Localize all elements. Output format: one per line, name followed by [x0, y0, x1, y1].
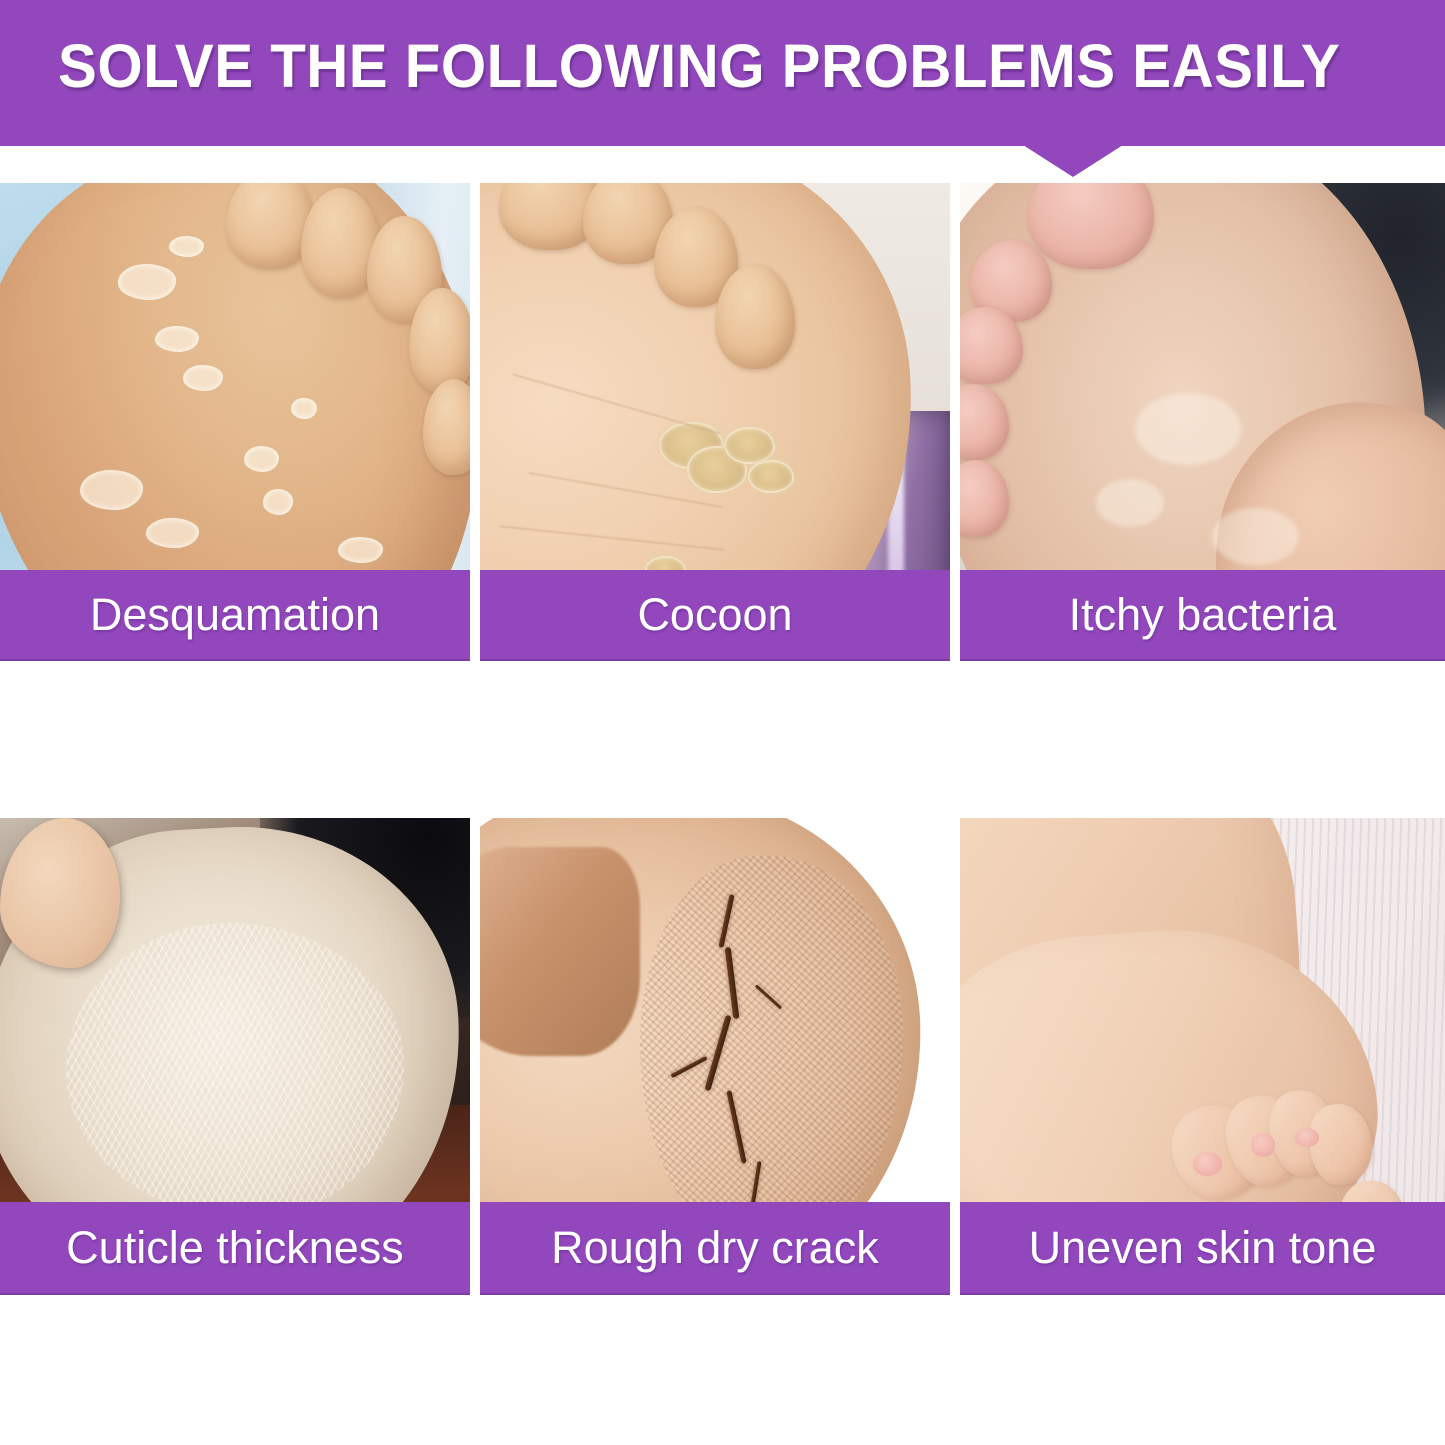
ankle-shadow — [480, 847, 640, 1057]
caption-bar-cuticle-thickness: Cuticle thickness — [0, 1202, 470, 1295]
problem-card-uneven-skin-tone[interactable]: Uneven skin tone — [960, 818, 1445, 1386]
skin-flake — [169, 236, 204, 257]
photo-desquamation: Desquamation — [0, 183, 470, 661]
big-toe — [1028, 183, 1154, 269]
dry-skin-patch — [1096, 479, 1164, 527]
skin-flake — [183, 365, 223, 391]
caption-bar-itchy-bacteria: Itchy bacteria — [960, 570, 1445, 661]
photo-cuticle-thickness: Cuticle thickness — [0, 818, 470, 1295]
callus-cocoon-spot — [724, 427, 775, 464]
toenail — [1295, 1128, 1319, 1147]
skin-flake — [338, 537, 382, 563]
callus-cocoon-spot — [748, 460, 794, 493]
photo-rough-dry-crack: Rough dry crack — [480, 818, 950, 1295]
caption-label: Desquamation — [90, 589, 380, 641]
skin-flake — [291, 398, 317, 419]
caption-label: Uneven skin tone — [1029, 1222, 1377, 1274]
toenail — [1193, 1152, 1222, 1176]
problem-card-cuticle-thickness[interactable]: Cuticle thickness — [0, 818, 470, 1386]
photo-itchy-bacteria: Itchy bacteria — [960, 183, 1445, 661]
row-gap — [0, 752, 1445, 818]
caption-label: Rough dry crack — [551, 1222, 879, 1274]
skin-flake — [263, 489, 293, 515]
caption-bar-uneven-skin-tone: Uneven skin tone — [960, 1202, 1445, 1295]
caption-label: Cuticle thickness — [66, 1222, 404, 1274]
photo-uneven-skin-tone: Uneven skin tone — [960, 818, 1445, 1295]
skin-flake — [244, 446, 279, 472]
header-banner: SOLVE THE FOLLOWING PROBLEMS EASILY — [0, 0, 1445, 146]
caption-label: Cocoon — [637, 589, 792, 641]
skin-flake — [146, 518, 200, 549]
skin-flake — [80, 470, 143, 510]
problem-card-rough-dry-crack[interactable]: Rough dry crack — [480, 818, 950, 1386]
problem-card-cocoon[interactable]: Cocoon — [480, 183, 950, 752]
dry-skin-patch — [1135, 393, 1242, 465]
caption-bar-cocoon: Cocoon — [480, 570, 950, 661]
caption-bar-rough-dry-crack: Rough dry crack — [480, 1202, 950, 1295]
page-title: SOLVE THE FOLLOWING PROBLEMS EASILY — [58, 28, 1347, 104]
toenail — [1251, 1133, 1275, 1157]
caption-bar-desquamation: Desquamation — [0, 570, 470, 661]
caption-label: Itchy bacteria — [1069, 589, 1337, 641]
problem-card-desquamation[interactable]: Desquamation — [0, 183, 470, 752]
problem-card-itchy-bacteria[interactable]: Itchy bacteria — [960, 183, 1445, 752]
problem-grid: Desquamation Cocoon — [0, 183, 1445, 1386]
skin-flake — [118, 264, 176, 299]
photo-cocoon: Cocoon — [480, 183, 950, 661]
banner-notch-triangle-icon — [1023, 145, 1123, 177]
